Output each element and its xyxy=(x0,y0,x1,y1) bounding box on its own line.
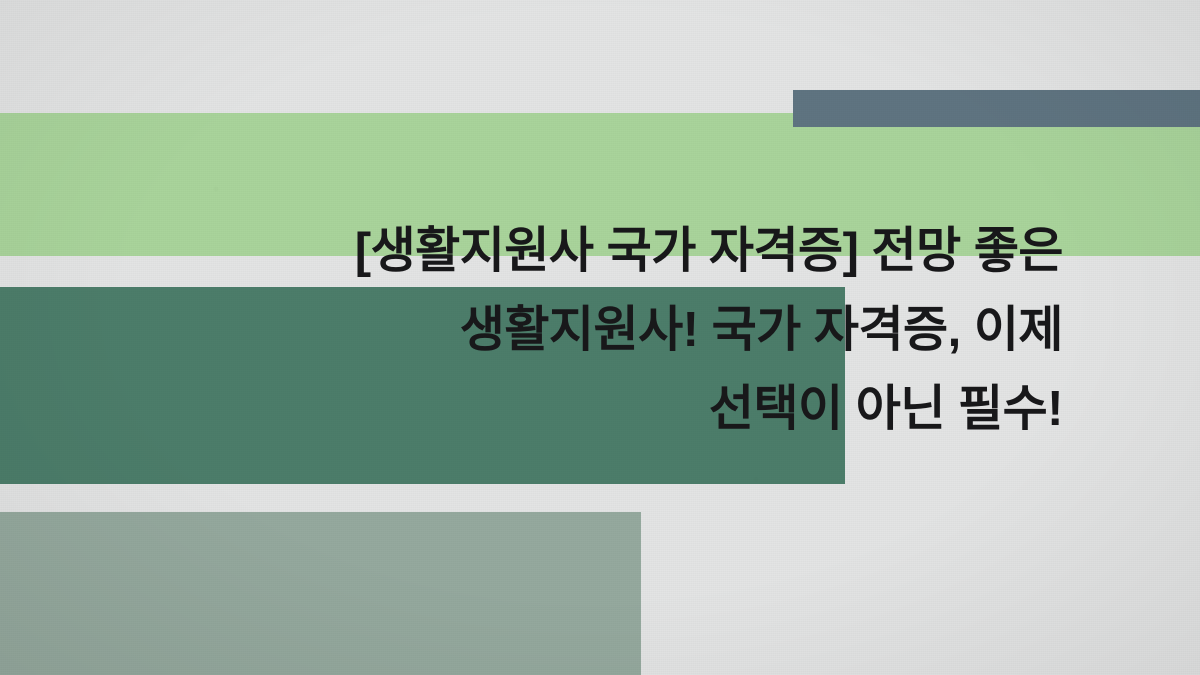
slate-accent-bar xyxy=(793,90,1200,127)
headline-line-1: [생활지원사 국가 자격증] 전망 좋은 xyxy=(0,212,1063,291)
thumbnail-canvas: [생활지원사 국가 자격증] 전망 좋은 생활지원사! 국가 자격증, 이제 선… xyxy=(0,0,1200,675)
headline-line-2: 생활지원사! 국가 자격증, 이제 xyxy=(0,291,1063,370)
headline-text: [생활지원사 국가 자격증] 전망 좋은 생활지원사! 국가 자격증, 이제 선… xyxy=(0,212,1063,449)
headline-line-3: 선택이 아닌 필수! xyxy=(0,370,1063,449)
sage-footer-block xyxy=(0,512,641,675)
